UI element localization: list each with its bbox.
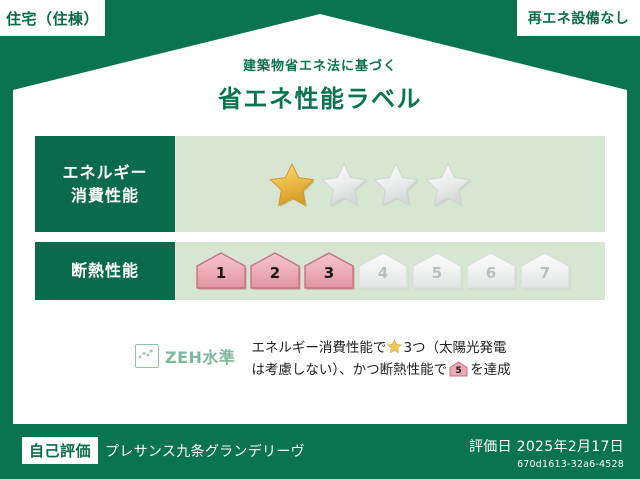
star-empty-icon [320,161,368,207]
energy-performance-label: 住宅（住棟） 再エネ設備なし 建築物省エネ法に基づく 省エネ性能ラベル エネルギ… [0,0,640,479]
inline-house-badge-icon: 5 [449,361,468,377]
footer-left: 自己評価 プレサンス九条グランデリーヴ [22,437,305,464]
house-rating: 1234567 [175,251,571,291]
building-name: プレサンス九条グランデリーヴ [105,441,305,461]
tag-renewable-energy: 再エネ設備なし [517,0,640,36]
row-body-insulation: 1234567 [175,242,605,300]
description-line-2: は考慮しない）、かつ断熱性能で5を達成 [251,360,510,382]
description-line2-pre: は考慮しない）、かつ断熱性能で [251,362,447,378]
zeh-label: ZEH水準 [165,344,235,368]
star-filled-icon [268,161,316,207]
self-evaluation-badge: 自己評価 [22,437,98,464]
evaluation-date: 評価日 2025年2月17日 [469,436,624,456]
footer-right: 評価日 2025年2月17日 670d1613-32a6-4528 [469,436,624,470]
row-insulation-performance: 断熱性能 1234567 [35,242,605,300]
house-empty-icon: 5 [411,251,463,291]
title-block: 建築物省エネ法に基づく 省エネ性能ラベル [0,55,640,114]
star-rating [175,161,472,207]
house-empty-icon: 7 [519,251,571,291]
description-line2-post: を達成 [470,362,511,378]
row-energy-performance: エネルギー 消費性能 [35,136,605,232]
star-empty-icon [372,161,420,207]
row-label-insulation-line1: 断熱性能 [71,259,139,282]
description-line1-pre: エネルギー消費性能で [251,340,386,356]
description-line1-post: 3つ（太陽光発電 [403,340,506,356]
star-empty-icon [424,161,472,207]
achievement-description: エネルギー消費性能で3つ（太陽光発電 は考慮しない）、かつ断熱性能で5を達成 [251,338,510,382]
page-title: 省エネ性能ラベル [0,79,640,114]
house-empty-icon: 6 [465,251,517,291]
house-empty-icon: 4 [357,251,409,291]
row-label-energy-line1: エネルギー [62,161,147,184]
zeh-standard: ZEH水準 [135,338,235,368]
description-block: ZEH水準 エネルギー消費性能で3つ（太陽光発電 は考慮しない）、かつ断熱性能で… [135,338,605,382]
title-subtitle: 建築物省エネ法に基づく [0,55,640,74]
description-line-1: エネルギー消費性能で3つ（太陽光発電 [251,338,510,360]
tag-building-type: 住宅（住棟） [0,0,105,36]
row-label-energy: エネルギー 消費性能 [35,136,175,232]
row-label-insulation: 断熱性能 [35,242,175,300]
zeh-checkbox-icon [135,344,159,368]
row-label-energy-line2: 消費性能 [71,184,139,207]
house-filled-icon: 1 [195,251,247,291]
inline-star-icon [387,339,402,354]
row-body-energy [175,136,605,232]
inline-house-badge-value: 5 [449,364,468,379]
house-filled-icon: 2 [249,251,301,291]
house-filled-icon: 3 [303,251,355,291]
evaluation-id: 670d1613-32a6-4528 [469,459,624,470]
